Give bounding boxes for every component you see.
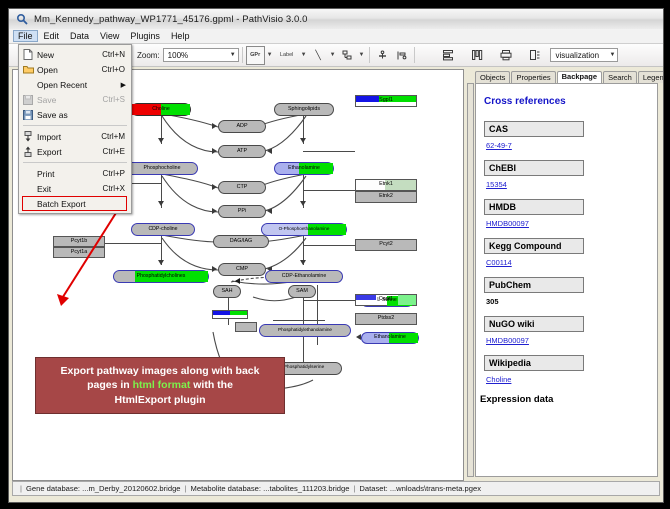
title-bar: Mm_Kennedy_pathway_WP1771_45176.gpml - P…	[9, 9, 663, 30]
anchor-icon[interactable]	[373, 46, 392, 65]
menu-item-save-as[interactable]: Save as	[19, 107, 131, 122]
menu-item-label: Open	[37, 65, 102, 75]
chevron-down-icon[interactable]: ▼	[301, 52, 307, 58]
menu-item-import[interactable]: Import Ctrl+M	[19, 129, 131, 144]
chevron-down-icon: ▼	[230, 52, 236, 58]
menu-item-export[interactable]: Export Ctrl+E	[19, 144, 131, 159]
zoom-combobox[interactable]: 100% ▼	[163, 48, 239, 62]
print-icon[interactable]	[496, 46, 515, 65]
xref-link-hmdb[interactable]: HMDB00097	[486, 219, 529, 228]
menu-bar: File Edit Data View Plugins Help	[9, 29, 663, 44]
backpage-content: Cross references CAS 62-49-7 ChEBI 15354…	[475, 83, 658, 477]
batch-export-highlight-box	[22, 196, 127, 211]
tab-objects[interactable]: Objects	[475, 71, 510, 83]
group-icon[interactable]	[392, 46, 411, 65]
import-icon	[19, 130, 37, 143]
panel-tab-row: Objects Properties Backpage Search Legen…	[475, 69, 664, 83]
menu-item-batch-export[interactable]: Batch Export	[19, 196, 131, 211]
legend-icon[interactable]	[525, 46, 544, 65]
xref-value-chebi[interactable]: 15354	[486, 180, 657, 189]
align-icon[interactable]	[438, 46, 457, 65]
window-title: Mm_Kennedy_pathway_WP1771_45176.gpml - P…	[34, 14, 308, 25]
submenu-arrow-icon: ▶	[121, 81, 131, 89]
file-menu-dropdown[interactable]: New Ctrl+N Open Ctrl+O Open Recent ▶ Sav…	[18, 44, 132, 214]
menu-separator	[23, 125, 127, 126]
tab-search[interactable]: Search	[603, 71, 637, 83]
xref-db-kegg: Kegg Compound	[484, 238, 584, 254]
interaction-icon[interactable]	[338, 46, 357, 65]
menu-item-label: Open Recent	[37, 80, 121, 90]
chevron-down-icon[interactable]: ▼	[359, 52, 365, 58]
zoom-value: 100%	[168, 51, 188, 60]
status-separator: |	[20, 484, 22, 493]
xref-db-cas: CAS	[484, 121, 584, 137]
menu-item-new[interactable]: New Ctrl+N	[19, 47, 131, 62]
pathvisio-app-icon	[16, 13, 29, 26]
side-panel: Objects Properties Backpage Search Legen…	[467, 69, 660, 479]
xref-link-chebi[interactable]: 15354	[486, 180, 507, 189]
menu-item-label: New	[37, 50, 102, 60]
pathvisio-window: Mm_Kennedy_pathway_WP1771_45176.gpml - P…	[8, 8, 664, 503]
menu-item-save: Save Ctrl+S	[19, 92, 131, 107]
chevron-down-icon[interactable]: ▼	[330, 52, 336, 58]
status-dataset-value: ...wnloads\trans-meta.pgex	[390, 484, 481, 493]
toolbar-separator	[369, 47, 370, 63]
menu-file[interactable]: File	[13, 30, 38, 42]
tab-backpage[interactable]: Backpage	[557, 71, 602, 83]
menu-item-label: Save as	[37, 110, 125, 120]
menu-item-print[interactable]: Print Ctrl+P	[19, 166, 131, 181]
menu-item-label: Import	[37, 132, 101, 142]
export-icon	[19, 145, 37, 158]
visualization-value: visualization	[555, 51, 599, 60]
screenshot-root: Mm_Kennedy_pathway_WP1771_45176.gpml - P…	[0, 0, 670, 509]
expression-data-heading: Expression data	[480, 394, 657, 405]
line-icon[interactable]: ╲	[309, 46, 328, 65]
tab-legend[interactable]: Legend	[638, 71, 664, 83]
menu-item-open-recent[interactable]: Open Recent ▶	[19, 77, 131, 92]
xref-db-wikipedia: Wikipedia	[484, 355, 584, 371]
label-icon[interactable]: Label	[275, 46, 299, 65]
gene-product-icon[interactable]: GPr	[246, 46, 265, 65]
menu-item-accel: Ctrl+N	[102, 50, 131, 59]
xref-value-wikipedia[interactable]: Choline	[486, 375, 657, 384]
new-document-icon	[19, 48, 37, 61]
cross-references-heading: Cross references	[484, 96, 657, 107]
xref-value-nugo[interactable]: HMDB00097	[486, 336, 657, 345]
tab-properties[interactable]: Properties	[511, 71, 555, 83]
toolbar-separator	[242, 47, 243, 63]
xref-link-wikipedia[interactable]: Choline	[486, 375, 511, 384]
status-separator: |	[185, 484, 187, 493]
menu-edit[interactable]: Edit	[39, 30, 65, 42]
menu-help[interactable]: Help	[166, 30, 195, 42]
menu-data[interactable]: Data	[65, 30, 94, 42]
xref-link-nugo[interactable]: HMDB00097	[486, 336, 529, 345]
menu-item-accel: Ctrl+M	[101, 132, 131, 141]
xref-value-cas[interactable]: 62-49-7	[486, 141, 657, 150]
panel-split-handle[interactable]	[467, 83, 474, 477]
xref-link-kegg[interactable]: C00114	[486, 258, 512, 267]
status-metabolite-db-label: Metabolite database:	[191, 484, 262, 493]
menu-item-accel: Ctrl+E	[103, 147, 131, 156]
menu-view[interactable]: View	[95, 30, 124, 42]
xref-db-chebi: ChEBI	[484, 160, 584, 176]
status-gene-db-value: ...m_Derby_20120602.bridge	[82, 484, 180, 493]
status-separator: |	[353, 484, 355, 493]
xref-db-hmdb: HMDB	[484, 199, 584, 215]
xref-db-pubchem: PubChem	[484, 277, 584, 293]
menu-item-accel: Ctrl+P	[103, 169, 131, 178]
chevron-down-icon[interactable]: ▼	[267, 52, 273, 58]
toolbar-separator	[414, 47, 415, 63]
menu-item-accel: Ctrl+X	[103, 184, 131, 193]
menu-item-label: Exit	[37, 184, 103, 194]
columns-icon[interactable]	[467, 46, 486, 65]
visualization-combobox[interactable]: visualization ▼	[550, 48, 618, 62]
menu-separator	[23, 162, 127, 163]
save-disk-icon	[19, 93, 37, 106]
open-folder-icon	[19, 63, 37, 76]
status-gene-db-label: Gene database:	[26, 484, 80, 493]
menu-item-accel: Ctrl+O	[102, 65, 131, 74]
xref-db-nugo: NuGO wiki	[484, 316, 584, 332]
xref-value-pubchem: 305	[486, 297, 657, 306]
menu-item-accel: Ctrl+S	[103, 95, 131, 104]
xref-value-hmdb[interactable]: HMDB00097	[486, 219, 657, 228]
xref-link-cas[interactable]: 62-49-7	[486, 141, 512, 150]
menu-item-open[interactable]: Open Ctrl+O	[19, 62, 131, 77]
status-bar: | Gene database: ...m_Derby_20120602.bri…	[12, 481, 660, 496]
menu-plugins[interactable]: Plugins	[125, 30, 165, 42]
chevron-down-icon: ▼	[610, 52, 616, 58]
menu-item-label: Export	[37, 147, 103, 157]
status-dataset-label: Dataset:	[359, 484, 387, 493]
menu-item-label: Print	[37, 169, 103, 179]
menu-item-exit[interactable]: Exit Ctrl+X	[19, 181, 131, 196]
status-metabolite-db-value: ...tabolites_111203.bridge	[263, 484, 349, 493]
xref-value-kegg[interactable]: C00114	[486, 258, 657, 267]
menu-item-label: Save	[37, 95, 103, 105]
save-as-icon	[19, 108, 37, 121]
zoom-label: Zoom:	[137, 51, 160, 60]
